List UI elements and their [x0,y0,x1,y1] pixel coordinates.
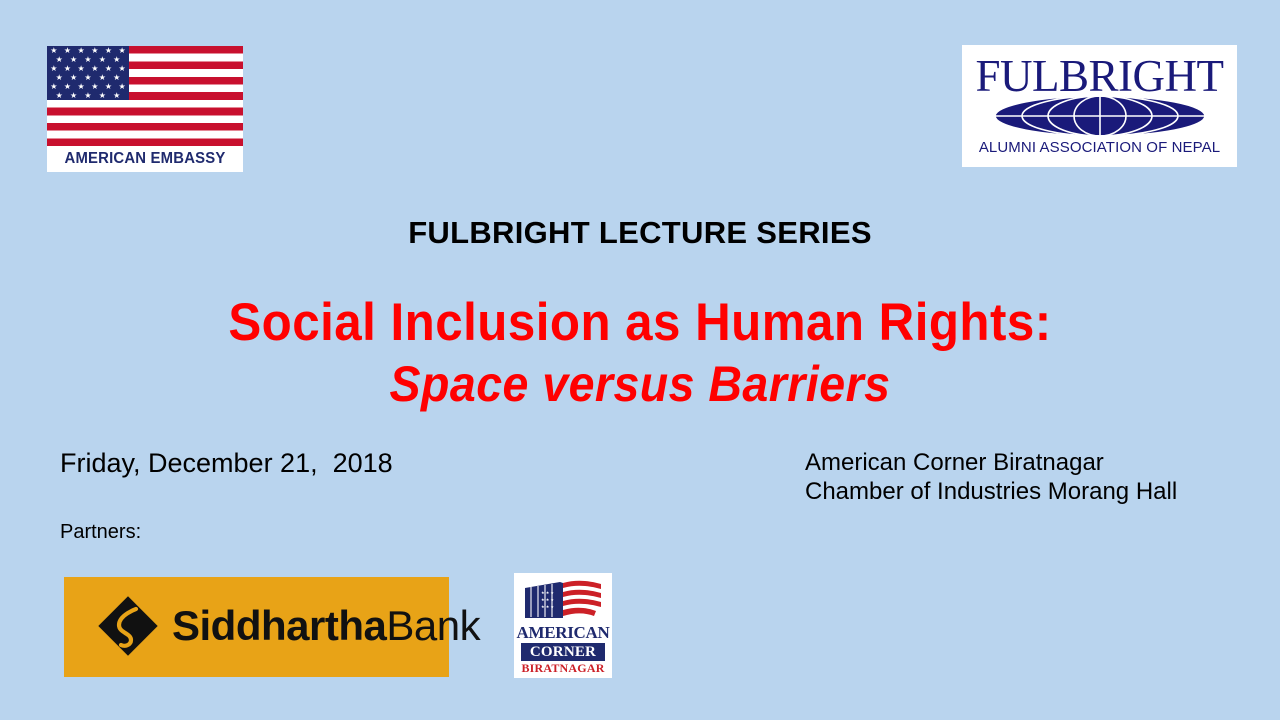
presentation-slide: ★★★★★★ ★★★★★ ★★★★★★ ★★★★★ ★★★★★★ ★★★★★ A… [0,0,1280,720]
american-corner-line-3: BIRATNAGAR [514,661,612,675]
svg-text:★ ★ ★: ★ ★ ★ [541,590,554,595]
lecture-title-line-1: Social Inclusion as Human Rights: [45,292,1235,354]
american-embassy-logo: ★★★★★★ ★★★★★ ★★★★★★ ★★★★★ ★★★★★★ ★★★★★ A… [47,46,243,172]
fulbright-subtitle: ALUMNI ASSOCIATION OF NEPAL [962,139,1237,156]
flag-canton: ★★★★★★ ★★★★★ ★★★★★★ ★★★★★ ★★★★★★ ★★★★★ [47,46,129,100]
siddhartha-bank-wordmark: SiddharthaBank [172,598,480,654]
american-corner-line-2: CORNER [530,644,596,660]
lecture-title: Social Inclusion as Human Rights: Space … [0,292,1280,414]
siddhartha-bank-logo: SiddharthaBank [64,577,449,677]
event-venue-line-2: Chamber of Industries Morang Hall [805,477,1177,506]
partners-label: Partners: [60,521,141,544]
fulbright-wordmark: FULBRIGHT [962,51,1237,101]
american-corner-logo: ★ ★ ★ ★ ★ ★ ★ ★ ★ AMERICAN CORNER BIRATN… [514,573,612,678]
lecture-series-heading: FULBRIGHT LECTURE SERIES [0,215,1280,251]
globe-icon [994,95,1206,137]
american-corner-bar: CORNER [521,643,605,661]
event-date: Friday, December 21, 2018 [60,448,393,479]
lecture-title-line-2: Space versus Barriers [45,354,1235,414]
siddhartha-name-light: Bank [386,602,480,649]
siddhartha-diamond-icon [95,593,161,659]
event-venue: American Corner Biratnagar Chamber of In… [805,448,1177,506]
american-embassy-caption: AMERICAN EMBASSY [51,146,239,172]
us-flag-icon: ★★★★★★ ★★★★★ ★★★★★★ ★★★★★ ★★★★★★ ★★★★★ [47,46,243,146]
event-venue-line-1: American Corner Biratnagar [805,448,1177,477]
svg-text:★ ★ ★: ★ ★ ★ [541,604,554,609]
fulbright-alumni-logo: FULBRIGHT ALUMNI ASSOCIATION OF NEPAL [962,45,1237,167]
open-book-flag-icon: ★ ★ ★ ★ ★ ★ ★ ★ ★ [522,578,604,624]
american-corner-line-1: AMERICAN [514,623,612,642]
siddhartha-name-bold: Siddhartha [172,602,386,649]
svg-text:★ ★ ★: ★ ★ ★ [541,597,554,602]
